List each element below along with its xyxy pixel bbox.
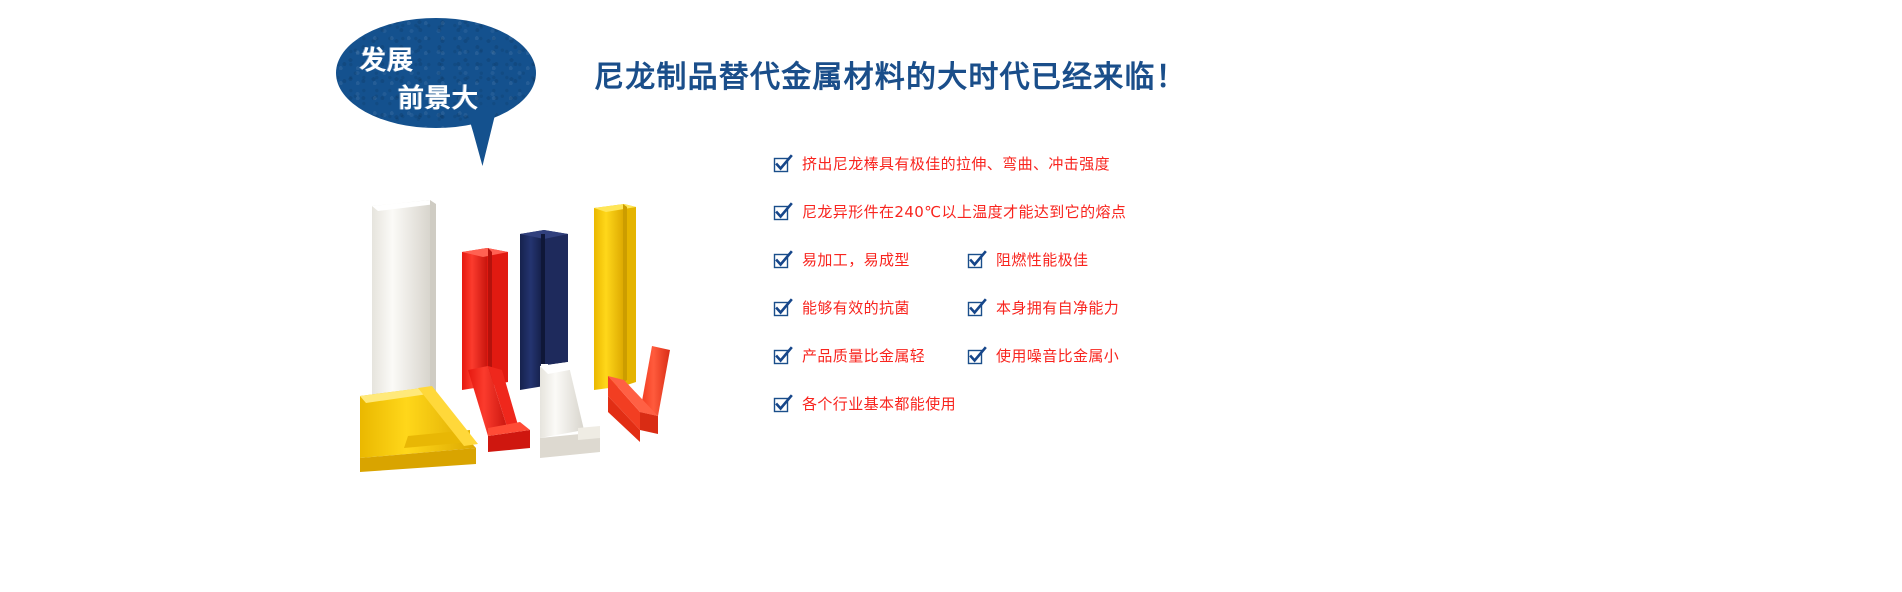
- list-item-label: 易加工，易成型: [802, 253, 910, 268]
- list-item-label: 能够有效的抗菌: [802, 301, 910, 316]
- white-u-channel-tall: [372, 200, 436, 402]
- feature-row: 易加工，易成型 阻燃性能极佳: [774, 248, 1394, 296]
- list-item-label: 挤出尼龙棒具有极佳的拉伸、弯曲、冲击强度: [802, 157, 1110, 172]
- speech-bubble: 发展 前景大: [336, 18, 548, 166]
- list-item-label: 使用噪音比金属小: [996, 349, 1119, 364]
- feature-row: 挤出尼龙棒具有极佳的拉伸、弯曲、冲击强度: [774, 152, 1394, 200]
- feature-row: 各个行业基本都能使用: [774, 392, 1394, 440]
- list-item-label: 各个行业基本都能使用: [802, 397, 956, 412]
- feature-list: 挤出尼龙棒具有极佳的拉伸、弯曲、冲击强度 尼龙异形件在240℃以上温度才能达到它…: [774, 152, 1394, 440]
- list-item: 尼龙异形件在240℃以上温度才能达到它的熔点: [774, 200, 1126, 224]
- list-item: 易加工，易成型: [774, 248, 910, 272]
- white-u-channel-lying: [540, 362, 600, 458]
- speech-bubble-line-1: 发展: [360, 48, 414, 74]
- speech-bubble-line-2: 前景大: [398, 86, 479, 112]
- page-title: 尼龙制品替代金属材料的大时代已经来临！: [594, 52, 1187, 96]
- nylon-profiles-illustration: [352, 190, 712, 480]
- feature-row: 产品质量比金属轻 使用噪音比金属小: [774, 344, 1394, 392]
- list-item-label: 尼龙异形件在240℃以上温度才能达到它的熔点: [802, 205, 1126, 220]
- list-item-label: 阻燃性能极佳: [996, 253, 1088, 268]
- product-photo: [352, 190, 712, 480]
- checkbox-checked-icon: [774, 205, 789, 220]
- list-item: 能够有效的抗菌: [774, 296, 910, 320]
- yellow-u-channel-lying: [360, 386, 478, 472]
- yellow-u-channel-tall: [594, 204, 636, 390]
- checkbox-checked-icon: [774, 349, 789, 364]
- feature-row: 尼龙异形件在240℃以上温度才能达到它的熔点: [774, 200, 1394, 248]
- feature-row: 能够有效的抗菌 本身拥有自净能力: [774, 296, 1394, 344]
- checkbox-checked-icon: [774, 397, 789, 412]
- list-item: 挤出尼龙棒具有极佳的拉伸、弯曲、冲击强度: [774, 152, 1110, 176]
- list-item: 使用噪音比金属小: [968, 344, 1119, 368]
- checkbox-checked-icon: [774, 157, 789, 172]
- checkbox-checked-icon: [774, 253, 789, 268]
- checkbox-checked-icon: [774, 301, 789, 316]
- list-item: 产品质量比金属轻: [774, 344, 925, 368]
- list-item: 本身拥有自净能力: [968, 296, 1119, 320]
- checkbox-checked-icon: [968, 253, 983, 268]
- promo-banner: 发展 前景大 尼龙制品替代金属材料的大时代已经来临！: [0, 0, 1902, 592]
- list-item-label: 产品质量比金属轻: [802, 349, 925, 364]
- checkbox-checked-icon: [968, 301, 983, 316]
- list-item-label: 本身拥有自净能力: [996, 301, 1119, 316]
- list-item: 阻燃性能极佳: [968, 248, 1088, 272]
- list-item: 各个行业基本都能使用: [774, 392, 956, 416]
- checkbox-checked-icon: [968, 349, 983, 364]
